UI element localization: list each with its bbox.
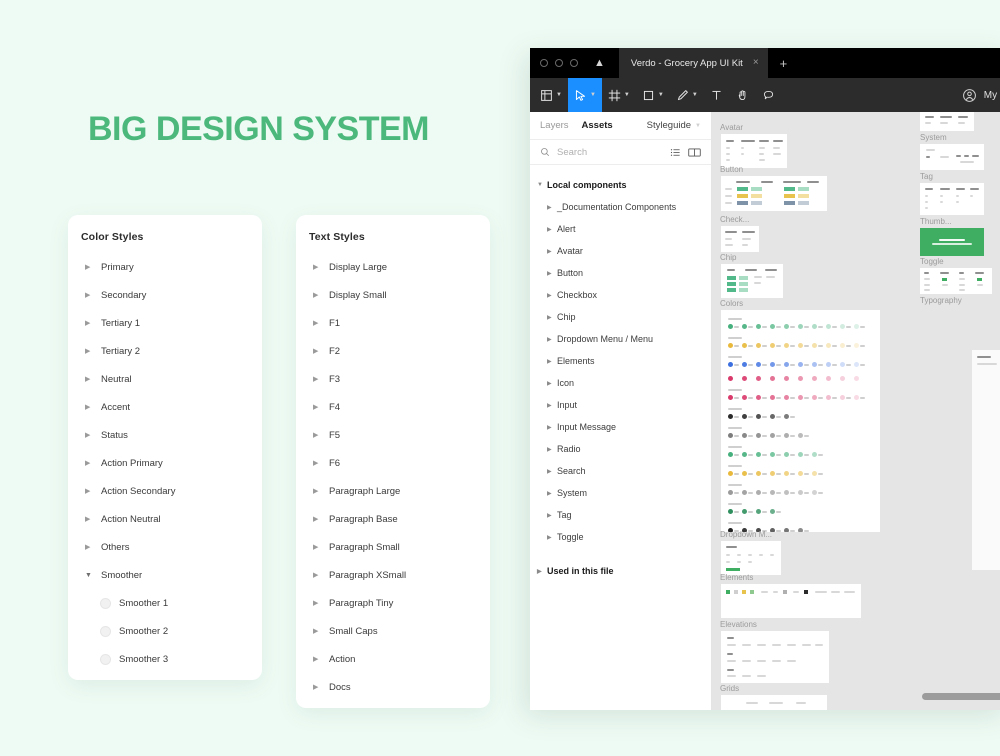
asset-component-row[interactable]: ▶Search	[530, 460, 711, 482]
color-swatch-label	[790, 454, 795, 456]
chevron-right-icon[interactable]: ▶	[85, 488, 95, 495]
asset-component-label: Search	[557, 466, 586, 476]
section-label-dropdown[interactable]: Dropdown M...	[720, 530, 772, 539]
frame-colors[interactable]	[721, 310, 880, 532]
frame-elements[interactable]	[721, 584, 861, 618]
chevron-right-icon[interactable]: ▶	[547, 380, 557, 387]
chevron-right-icon[interactable]: ▶	[313, 264, 323, 271]
color-swatch[interactable]	[770, 376, 775, 381]
color-swatch[interactable]	[770, 509, 775, 514]
text-style-row[interactable]: ▶Small Caps	[296, 617, 490, 645]
asset-component-label: Input Message	[557, 422, 616, 432]
color-swatch[interactable]	[812, 452, 817, 457]
chevron-right-icon[interactable]: ▶	[547, 490, 557, 497]
asset-component-row[interactable]: ▶Icon	[530, 372, 711, 394]
color-swatch[interactable]	[826, 362, 831, 367]
asset-component-label: System	[557, 488, 587, 498]
color-swatch-label	[734, 326, 739, 328]
frame-button[interactable]	[721, 176, 827, 211]
figma-canvas[interactable]: Avatar But	[712, 112, 1000, 710]
text-icon[interactable]	[704, 78, 730, 112]
text-style-label: F6	[329, 458, 340, 469]
color-swatch[interactable]	[756, 509, 761, 514]
chevron-right-icon[interactable]: ▶	[313, 600, 323, 607]
color-swatch-label	[790, 416, 795, 418]
frame-toggle[interactable]	[920, 268, 992, 294]
chevron-down-icon[interactable]: ▼	[624, 92, 630, 98]
color-swatch[interactable]	[784, 362, 789, 367]
maximize-window-button[interactable]	[570, 59, 578, 67]
color-style-swatch-row[interactable]: Smoother 3	[68, 645, 262, 673]
chevron-right-icon[interactable]: ▶	[547, 446, 557, 453]
color-swatch[interactable]	[826, 343, 831, 348]
asset-component-row[interactable]: ▶Dropdown Menu / Menu	[530, 328, 711, 350]
home-icon[interactable]: ▲	[594, 58, 605, 69]
color-swatch-label	[748, 364, 753, 366]
chevron-right-icon[interactable]: ▶	[85, 432, 95, 439]
chevron-right-icon[interactable]: ▶	[313, 292, 323, 299]
color-swatch[interactable]	[770, 324, 775, 329]
color-swatch[interactable]	[784, 528, 789, 532]
section-label-toggle[interactable]: Toggle	[920, 257, 944, 266]
page-selector-label: Styleguide	[647, 120, 691, 131]
text-style-row[interactable]: ▶Docs	[296, 673, 490, 701]
asset-component-row[interactable]: ▶Alert	[530, 218, 711, 240]
color-style-group-row[interactable]: ▶Secondary	[68, 281, 262, 309]
color-swatch[interactable]	[728, 395, 733, 400]
color-swatch[interactable]	[798, 395, 803, 400]
color-swatch[interactable]	[728, 509, 733, 514]
color-swatch-label	[804, 454, 809, 456]
color-swatch[interactable]	[826, 376, 831, 381]
asset-component-row[interactable]: ▶Button	[530, 262, 711, 284]
chevron-right-icon[interactable]: ▶	[537, 568, 547, 575]
text-style-row[interactable]: ▶Action	[296, 645, 490, 673]
color-swatch[interactable]	[728, 433, 733, 438]
assets-search-row[interactable]: Search	[530, 139, 711, 165]
color-swatch[interactable]	[798, 324, 803, 329]
color-style-label: Neutral	[101, 374, 132, 385]
asset-component-row[interactable]: ▶Elements	[530, 350, 711, 372]
chevron-down-icon[interactable]: ▼	[658, 92, 664, 98]
chevron-down-icon[interactable]: ▼	[692, 92, 698, 98]
color-swatch[interactable]	[770, 414, 775, 419]
color-swatch[interactable]	[728, 362, 733, 367]
chevron-right-icon[interactable]: ▶	[85, 460, 95, 467]
asset-component-label: Checkbox	[557, 290, 597, 300]
text-style-label: Paragraph XSmall	[329, 570, 406, 581]
color-swatch[interactable]	[798, 376, 803, 381]
color-swatch[interactable]	[728, 452, 733, 457]
color-swatch[interactable]	[784, 395, 789, 400]
comment-icon[interactable]	[756, 78, 782, 112]
chevron-right-icon[interactable]: ▶	[547, 204, 557, 211]
color-swatch-label	[776, 326, 781, 328]
color-swatch[interactable]	[742, 395, 747, 400]
asset-component-row[interactable]: ▶Radio	[530, 438, 711, 460]
color-style-group-row[interactable]: ▶Action Primary	[68, 449, 262, 477]
color-swatch[interactable]	[756, 452, 761, 457]
section-label-button[interactable]: Button	[720, 165, 743, 174]
color-style-label: Smoother 3	[119, 654, 168, 665]
color-style-label: Tertiary 1	[101, 318, 140, 329]
text-style-label: Display Large	[329, 262, 387, 273]
color-swatch[interactable]	[728, 376, 733, 381]
color-swatch[interactable]	[798, 362, 803, 367]
color-style-swatch-row[interactable]: Smoother 2	[68, 617, 262, 645]
asset-component-row[interactable]: ▶Input	[530, 394, 711, 416]
color-swatch[interactable]	[742, 376, 747, 381]
pen-icon[interactable]: ▼	[670, 78, 704, 112]
color-swatch[interactable]	[742, 433, 747, 438]
chevron-right-icon[interactable]: ▶	[313, 376, 323, 383]
asset-component-row[interactable]: ▶Input Message	[530, 416, 711, 438]
assets-group-used-in-file[interactable]: ▶Used in this file	[530, 560, 711, 582]
chevron-right-icon[interactable]: ▶	[547, 270, 557, 277]
close-window-button[interactable]	[540, 59, 548, 67]
color-style-group-row[interactable]: ▶Others	[68, 533, 262, 561]
color-swatch[interactable]	[840, 343, 845, 348]
chevron-right-icon[interactable]: ▶	[547, 226, 557, 233]
new-tab-button[interactable]: +	[780, 57, 788, 70]
frame-chip[interactable]	[721, 264, 783, 298]
color-swatch[interactable]	[742, 452, 747, 457]
color-swatch[interactable]	[756, 324, 761, 329]
color-swatch[interactable]	[854, 376, 859, 381]
color-swatch[interactable]	[798, 528, 803, 532]
color-swatch-label	[776, 364, 781, 366]
color-swatch[interactable]	[812, 343, 817, 348]
color-swatch[interactable]	[770, 362, 775, 367]
text-style-row[interactable]: ▶F5	[296, 421, 490, 449]
color-swatch[interactable]	[854, 362, 859, 367]
section-label-elements[interactable]: Elements	[720, 573, 753, 582]
tab-assets[interactable]: Assets	[582, 120, 613, 131]
color-swatch-label	[748, 454, 753, 456]
chevron-right-icon[interactable]: ▶	[85, 264, 95, 271]
close-icon[interactable]: ×	[753, 58, 759, 68]
color-swatch	[100, 654, 111, 665]
color-swatch[interactable]	[812, 324, 817, 329]
color-swatch[interactable]	[840, 376, 845, 381]
chevron-right-icon[interactable]: ▶	[85, 348, 95, 355]
frame-typography[interactable]	[972, 350, 1000, 570]
color-swatch[interactable]	[798, 343, 803, 348]
window-controls[interactable]	[540, 59, 578, 67]
color-swatch[interactable]	[812, 471, 817, 476]
page-title: BIG DESIGN SYSTEM	[88, 110, 429, 149]
chevron-right-icon[interactable]: ▶	[313, 348, 323, 355]
frame-search[interactable]	[920, 112, 974, 131]
color-style-group-row[interactable]: ▶Action Neutral	[68, 505, 262, 533]
section-label-avatar[interactable]: Avatar	[720, 123, 743, 132]
color-swatch[interactable]	[812, 490, 817, 495]
color-row-label	[728, 503, 742, 505]
text-style-row[interactable]: ▶Display Small	[296, 281, 490, 309]
move-cursor-icon[interactable]: ▼	[568, 78, 602, 112]
color-swatch-label	[762, 492, 767, 494]
color-swatch[interactable]	[770, 452, 775, 457]
text-style-row[interactable]: ▶F1	[296, 309, 490, 337]
color-swatch-label	[818, 454, 823, 456]
color-swatch[interactable]	[812, 395, 817, 400]
chevron-down-icon[interactable]: ▼	[537, 182, 547, 188]
chevron-right-icon[interactable]: ▶	[313, 516, 323, 523]
text-style-row[interactable]: ▶Display Large	[296, 253, 490, 281]
frame-grids[interactable]	[721, 695, 827, 710]
text-style-row[interactable]: ▶F6	[296, 449, 490, 477]
asset-component-label: Chip	[557, 312, 576, 322]
color-swatch-label	[734, 473, 739, 475]
frame-dropdown[interactable]	[721, 541, 781, 575]
color-style-group-row[interactable]: ▶Status	[68, 421, 262, 449]
color-style-label: Smoother 1	[119, 598, 168, 609]
tab-layers[interactable]: Layers	[540, 120, 569, 131]
color-swatch[interactable]	[742, 343, 747, 348]
asset-component-row[interactable]: ▶Tag	[530, 504, 711, 526]
color-swatch	[100, 598, 111, 609]
color-swatch[interactable]	[756, 376, 761, 381]
color-style-group-row[interactable]: ▶Tertiary 2	[68, 337, 262, 365]
asset-component-row[interactable]: ▶Avatar	[530, 240, 711, 262]
section-label-colors[interactable]: Colors	[720, 299, 743, 308]
chevron-right-icon[interactable]: ▶	[313, 656, 323, 663]
color-swatch[interactable]	[742, 324, 747, 329]
color-swatch[interactable]	[742, 490, 747, 495]
color-style-swatch-row[interactable]: Smoother 1	[68, 589, 262, 617]
color-style-group-row[interactable]: ▶Action Secondary	[68, 477, 262, 505]
color-swatch[interactable]	[770, 433, 775, 438]
chevron-right-icon[interactable]: ▶	[313, 320, 323, 327]
color-style-group-row[interactable]: ▶Neutral	[68, 365, 262, 393]
color-swatch-label	[804, 492, 809, 494]
text-style-row[interactable]: ▶Paragraph XSmall	[296, 561, 490, 589]
frame-system[interactable]	[920, 144, 984, 170]
color-swatch[interactable]	[742, 414, 747, 419]
color-swatch[interactable]	[756, 490, 761, 495]
chevron-right-icon[interactable]: ▶	[313, 460, 323, 467]
color-swatch[interactable]	[770, 471, 775, 476]
color-row-label	[728, 427, 742, 429]
color-swatch[interactable]	[728, 490, 733, 495]
shape-rectangle-icon[interactable]: ▼	[636, 78, 670, 112]
frame-tag[interactable]	[920, 183, 984, 215]
color-swatch-label	[832, 397, 837, 399]
text-style-row[interactable]: ▶Paragraph Base	[296, 505, 490, 533]
color-swatch[interactable]	[854, 343, 859, 348]
chevron-right-icon[interactable]: ▶	[547, 292, 557, 299]
color-style-group-row[interactable]: ▶Primary	[68, 253, 262, 281]
chevron-right-icon[interactable]: ▶	[547, 402, 557, 409]
chevron-right-icon[interactable]: ▶	[313, 404, 323, 411]
color-swatch[interactable]	[770, 490, 775, 495]
color-swatch[interactable]	[798, 433, 803, 438]
section-label-grids[interactable]: Grids	[720, 684, 739, 693]
chevron-right-icon[interactable]: ▶	[313, 432, 323, 439]
section-label-checkbox[interactable]: Check...	[720, 215, 749, 224]
section-label-typography[interactable]: Typography	[920, 296, 962, 305]
color-swatch[interactable]	[770, 395, 775, 400]
asset-component-label: Elements	[557, 356, 595, 366]
color-swatch-label	[762, 454, 767, 456]
asset-component-row[interactable]: ▶System	[530, 482, 711, 504]
color-swatch[interactable]	[798, 452, 803, 457]
color-swatch[interactable]	[756, 471, 761, 476]
color-styles-list: ▶Primary▶Secondary▶Tertiary 1▶Tertiary 2…	[68, 243, 262, 673]
color-swatch-label	[790, 435, 795, 437]
color-swatch[interactable]	[826, 324, 831, 329]
color-style-label: Smoother 2	[119, 626, 168, 637]
color-swatch[interactable]	[812, 362, 817, 367]
color-swatch-label	[748, 345, 753, 347]
text-style-label: F3	[329, 374, 340, 385]
color-swatch[interactable]	[784, 343, 789, 348]
chevron-right-icon[interactable]: ▶	[547, 336, 557, 343]
hand-icon[interactable]	[730, 78, 756, 112]
frame-thumbnail[interactable]	[920, 228, 984, 256]
text-style-row[interactable]: ▶Paragraph Large	[296, 477, 490, 505]
chevron-right-icon[interactable]: ▶	[85, 516, 95, 523]
chevron-right-icon[interactable]: ▶	[547, 534, 557, 541]
section-label-chip[interactable]: Chip	[720, 253, 736, 262]
asset-component-row[interactable]: ▶Chip	[530, 306, 711, 328]
asset-component-row[interactable]: ▶Checkbox	[530, 284, 711, 306]
text-style-row[interactable]: ▶F4	[296, 393, 490, 421]
frame-checkbox[interactable]	[721, 226, 759, 252]
chevron-right-icon[interactable]: ▶	[313, 684, 323, 691]
color-swatch[interactable]	[728, 471, 733, 476]
chevron-right-icon[interactable]: ▶	[547, 468, 557, 475]
chevron-right-icon[interactable]: ▶	[85, 404, 95, 411]
chevron-right-icon[interactable]: ▶	[313, 544, 323, 551]
page-selector[interactable]: Styleguide ▼	[647, 120, 701, 131]
color-swatch-label	[776, 530, 781, 532]
section-label-tag[interactable]: Tag	[920, 172, 933, 181]
color-swatch[interactable]	[840, 324, 845, 329]
color-swatch-label	[846, 345, 851, 347]
color-swatch[interactable]	[728, 414, 733, 419]
text-style-row[interactable]: ▶Paragraph Small	[296, 533, 490, 561]
color-swatch[interactable]	[784, 471, 789, 476]
color-swatch[interactable]	[812, 376, 817, 381]
color-swatch[interactable]	[854, 395, 859, 400]
text-style-label: Small Caps	[329, 626, 378, 637]
chevron-right-icon[interactable]: ▶	[85, 376, 95, 383]
chevron-right-icon[interactable]: ▶	[547, 314, 557, 321]
chevron-down-icon[interactable]: ▼	[590, 92, 596, 98]
color-swatch[interactable]	[742, 362, 747, 367]
text-style-row[interactable]: ▶Paragraph Tiny	[296, 589, 490, 617]
text-style-row[interactable]: ▶F3	[296, 365, 490, 393]
color-swatch[interactable]	[770, 343, 775, 348]
list-view-icon[interactable]	[670, 147, 681, 158]
chevron-right-icon[interactable]: ▶	[313, 572, 323, 579]
chevron-right-icon[interactable]: ▶	[547, 424, 557, 431]
color-swatch[interactable]	[798, 471, 803, 476]
chevron-right-icon[interactable]: ▶	[547, 358, 557, 365]
frame-avatar[interactable]	[721, 134, 787, 168]
scrollbar-thumb[interactable]	[922, 693, 1000, 700]
chevron-down-icon[interactable]: ▼	[85, 572, 95, 579]
library-icon[interactable]	[688, 147, 701, 158]
file-tab[interactable]: Verdo - Grocery App UI Kit ×	[619, 48, 768, 78]
color-swatch-label	[762, 435, 767, 437]
asset-component-row[interactable]: ▶_Documentation Components	[530, 196, 711, 218]
text-style-label: Paragraph Base	[329, 514, 398, 525]
color-swatch[interactable]	[784, 452, 789, 457]
frame-elevations[interactable]	[721, 631, 829, 683]
section-label-elevations[interactable]: Elevations	[720, 620, 757, 629]
chevron-right-icon[interactable]: ▶	[313, 488, 323, 495]
search-input[interactable]: Search	[557, 147, 663, 158]
color-style-label: Smoother	[101, 570, 142, 581]
color-swatch[interactable]	[798, 490, 803, 495]
color-swatch[interactable]	[742, 471, 747, 476]
color-swatch[interactable]	[728, 324, 733, 329]
color-swatch[interactable]	[728, 343, 733, 348]
color-swatch[interactable]	[756, 395, 761, 400]
chevron-right-icon[interactable]: ▶	[85, 292, 95, 299]
color-swatch[interactable]	[840, 362, 845, 367]
color-swatch[interactable]	[784, 433, 789, 438]
chevron-right-icon[interactable]: ▶	[547, 248, 557, 255]
color-swatch[interactable]	[742, 509, 747, 514]
color-swatch-label	[804, 364, 809, 366]
color-swatch-label	[832, 364, 837, 366]
chevron-right-icon[interactable]: ▶	[547, 512, 557, 519]
main-menu-icon[interactable]: ▼	[534, 78, 568, 112]
color-swatch[interactable]	[784, 414, 789, 419]
text-style-label: Docs	[329, 682, 351, 693]
color-swatch[interactable]	[826, 395, 831, 400]
chevron-right-icon[interactable]: ▶	[85, 544, 95, 551]
text-style-row[interactable]: ▶F2	[296, 337, 490, 365]
color-swatch[interactable]	[840, 395, 845, 400]
account-avatar-icon[interactable]	[962, 88, 977, 103]
canvas-horizontal-scrollbar[interactable]	[894, 693, 1000, 700]
chevron-down-icon[interactable]: ▼	[556, 92, 562, 98]
text-style-label: Paragraph Small	[329, 542, 400, 553]
color-swatch[interactable]	[784, 490, 789, 495]
minimize-window-button[interactable]	[555, 59, 563, 67]
asset-component-row[interactable]: ▶Toggle	[530, 526, 711, 548]
thumbnail-subtitle-line	[932, 243, 972, 245]
color-swatch[interactable]	[784, 324, 789, 329]
color-swatch-label	[762, 473, 767, 475]
color-swatch[interactable]	[784, 376, 789, 381]
color-swatch-label	[734, 345, 739, 347]
color-style-label: Secondary	[101, 290, 146, 301]
color-swatch[interactable]	[756, 362, 761, 367]
color-style-group-row[interactable]: ▼Smoother	[68, 561, 262, 589]
section-label-thumbnail[interactable]: Thumb...	[920, 217, 952, 226]
asset-component-label: Radio	[557, 444, 581, 454]
section-label-system[interactable]: System	[920, 133, 947, 142]
color-swatch[interactable]	[756, 433, 761, 438]
assets-group-local-components[interactable]: ▼Local components	[530, 174, 711, 196]
color-swatch-label	[860, 345, 865, 347]
color-style-group-row[interactable]: ▶Accent	[68, 393, 262, 421]
color-style-group-row[interactable]: ▶Tertiary 1	[68, 309, 262, 337]
chevron-right-icon[interactable]: ▶	[85, 320, 95, 327]
frame-icon[interactable]: ▼	[602, 78, 636, 112]
chevron-right-icon[interactable]: ▶	[313, 628, 323, 635]
thumbnail-title-line	[939, 239, 965, 241]
color-swatch[interactable]	[756, 414, 761, 419]
color-swatch[interactable]	[854, 324, 859, 329]
color-swatch[interactable]	[756, 343, 761, 348]
color-swatch-label	[734, 492, 739, 494]
